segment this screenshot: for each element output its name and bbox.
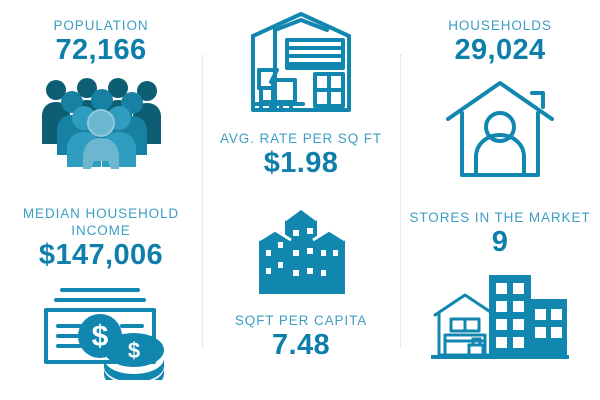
avg-rate-per-sq-ft-text-block: AVG. RATE PER SQ FT $1.98: [220, 131, 382, 180]
sqft-per-capita-text-block: SQFT PER CAPITA 7.48: [235, 313, 367, 362]
population-text-block: POPULATION 72,166: [53, 18, 148, 67]
cash-money-icon: $ $: [36, 284, 166, 385]
stores-in-the-market-label: STORES IN THE MARKET: [409, 210, 590, 227]
households-label: HOUSEHOLDS: [448, 18, 552, 35]
population-label: POPULATION: [53, 18, 148, 35]
stores-in-the-market-text-block: STORES IN THE MARKET 9: [409, 210, 590, 259]
svg-text:$: $: [128, 338, 140, 363]
stat-card-population: POPULATION 72,166: [0, 0, 202, 200]
stores-buildings-icon: [429, 269, 571, 368]
people-group-icon: [39, 77, 163, 174]
sqft-per-capita-label: SQFT PER CAPITA: [235, 313, 367, 330]
house-person-icon: [442, 77, 558, 186]
stores-in-the-market-value: 9: [492, 227, 509, 259]
median-household-income-text-block: MEDIAN HOUSEHOLD INCOME $147,006: [16, 206, 186, 272]
avg-rate-per-sq-ft-value: $1.98: [264, 148, 339, 180]
stat-card-avg-rate-per-sq-ft: AVG. RATE PER SQ FT $1.98: [202, 0, 400, 200]
stat-card-stores-in-the-market: STORES IN THE MARKET 9: [400, 200, 600, 400]
stat-card-sqft-per-capita: SQFT PER CAPITA 7.48: [202, 200, 400, 400]
warehouse-icon: [245, 10, 357, 123]
households-text-block: HOUSEHOLDS 29,024: [448, 18, 552, 67]
avg-rate-per-sq-ft-label: AVG. RATE PER SQ FT: [220, 131, 382, 148]
households-value: 29,024: [454, 35, 545, 67]
stat-card-households: HOUSEHOLDS 29,024: [400, 0, 600, 200]
population-value: 72,166: [55, 35, 146, 67]
median-household-income-label: MEDIAN HOUSEHOLD INCOME: [16, 206, 186, 240]
market-stats-infographic: POPULATION 72,166: [0, 0, 600, 400]
median-household-income-value: $147,006: [39, 240, 163, 272]
stat-card-median-household-income: MEDIAN HOUSEHOLD INCOME $147,006 $: [0, 200, 202, 400]
sqft-per-capita-value: 7.48: [272, 330, 330, 362]
city-buildings-icon: [255, 206, 347, 303]
